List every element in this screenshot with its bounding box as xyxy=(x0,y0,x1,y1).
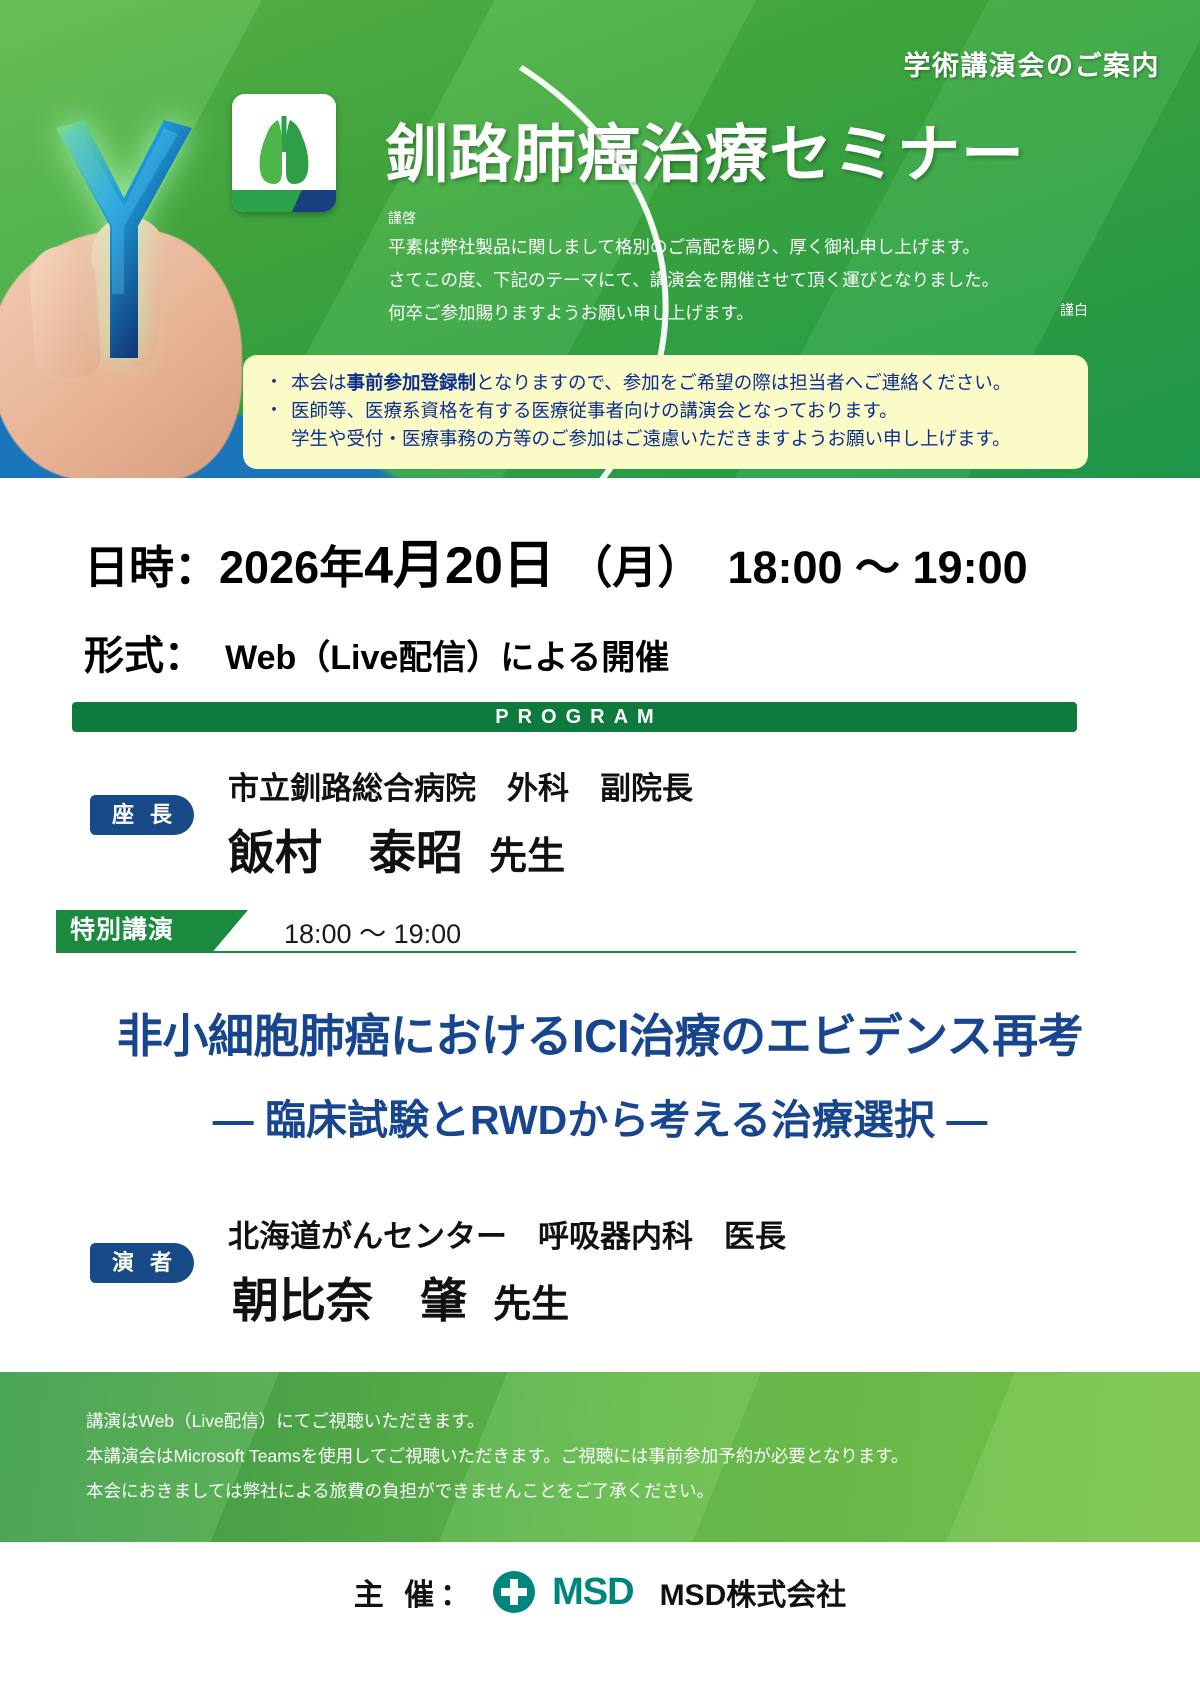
chair-role-badge: 座 長 xyxy=(90,795,194,835)
host-row: 主 催： MSD MSD株式会社 xyxy=(0,1570,1200,1614)
host-label: 主 催： xyxy=(354,1570,476,1614)
notice-item-2: 医師等、医療系資格を有する医療従事者向けの講演会となっております。 xyxy=(265,397,1066,425)
msd-logo-icon xyxy=(492,1570,536,1614)
special-lecture-time: 18:00 ～ 19:00 xyxy=(284,912,461,951)
speaker-name: 朝比奈 肇 xyxy=(232,1274,467,1327)
lecture-title-line-1: 非小細胞肺癌におけるICI治療のエビデンス再考 xyxy=(0,1000,1200,1066)
greeting-line-2: さてこの度、下記のテーマにて、講演会を開催させて頂く運びとなりました。 xyxy=(388,264,1088,297)
msd-wordmark: MSD xyxy=(552,1571,633,1614)
footer-note-2: 本講演会はMicrosoft Teamsを使用してご視聴いただきます。ご視聴には… xyxy=(86,1439,909,1474)
datetime-day: 20日 xyxy=(445,537,555,595)
special-lecture-rule xyxy=(56,951,1076,953)
datetime-time: 18:00 ～ 19:00 xyxy=(727,542,1027,593)
chair-honorific: 先生 xyxy=(489,836,565,878)
greeting-line-3: 何卒ご参加賜りますようお願い申し上げます。 謹白 xyxy=(388,297,1088,330)
special-lecture-header: 特別講演 18:00 ～ 19:00 xyxy=(56,910,1076,956)
lung-icon xyxy=(232,94,336,212)
program-bar: PROGRAM xyxy=(72,702,1077,732)
notice-emphasis: 事前参加登録制 xyxy=(347,372,477,393)
poster-header: 学術講演会のご案内 釧路肺癌治療セミナー 謹啓 平素は弊社製品に関しまして格別の… xyxy=(0,0,1200,478)
host-company: MSD株式会社 xyxy=(660,1570,847,1614)
format-label: 形式： xyxy=(84,634,204,678)
notice-item-1: 本会は事前参加登録制となりますので、参加をご希望の際は担当者へご連絡ください。 xyxy=(265,369,1066,397)
chair-affiliation: 市立釧路総合病院 外科 副院長 xyxy=(228,763,693,808)
seminar-title: 釧路肺癌治療セミナー xyxy=(385,104,1025,195)
lecture-title-line-2: — 臨床試験とRWDから考える治療選択 — xyxy=(0,1086,1200,1146)
speaker-affiliation: 北海道がんセンター 呼吸器内科 医長 xyxy=(228,1211,786,1256)
speaker-honorific: 先生 xyxy=(493,1284,569,1326)
footer-notes: 講演はWeb（Live配信）にてご視聴いただきます。 本講演会はMicrosof… xyxy=(86,1404,909,1509)
chair-name-row: 飯村 泰昭 先生 xyxy=(228,814,565,883)
host-strip xyxy=(0,1542,1200,1697)
chair-name: 飯村 泰昭 xyxy=(228,826,463,879)
speaker-role-badge: 演 者 xyxy=(90,1243,194,1283)
notice-box: 本会は事前参加登録制となりますので、参加をご希望の際は担当者へご連絡ください。 … xyxy=(243,355,1088,469)
footer-note-3: 本会におきましては弊社による旅費の負担ができませんことをご了承ください。 xyxy=(86,1474,909,1509)
greeting-block: 謹啓 平素は弊社製品に関しまして格別のご高配を賜り、厚く御礼申し上げます。 さて… xyxy=(388,205,1088,329)
poster-footer: 講演はWeb（Live配信）にてご視聴いただきます。 本講演会はMicrosof… xyxy=(0,1372,1200,1542)
datetime-row: 日時：2026年4月20日 （月） 18:00 ～ 19:00 xyxy=(84,523,1028,598)
datetime-year: 2026年 xyxy=(219,542,364,593)
datetime-weekday: （月） xyxy=(567,542,702,593)
footer-note-1: 講演はWeb（Live配信）にてご視聴いただきます。 xyxy=(86,1404,909,1439)
antibody-y-icon xyxy=(38,114,208,364)
format-row: 形式： Web（Live配信）による開催 xyxy=(84,623,669,681)
header-kicker: 学術講演会のご案内 xyxy=(904,44,1161,83)
format-value: Web（Live配信）による開催 xyxy=(225,639,669,677)
datetime-label: 日時： xyxy=(84,542,219,593)
greeting-line-1: 平素は弊社製品に関しまして格別のご高配を賜り、厚く御礼申し上げます。 xyxy=(388,231,1088,264)
datetime-month: 4月 xyxy=(364,537,445,595)
notice-item-2-continued: 学生や受付・医療事務の方等のご参加はご遠慮いただきますようお願い申し上げます。 xyxy=(265,425,1066,453)
speaker-name-row: 朝比奈 肇 先生 xyxy=(232,1262,569,1331)
special-lecture-ribbon: 特別講演 xyxy=(56,910,248,951)
greeting-salutation: 謹啓 xyxy=(388,205,1088,231)
poster-body: 日時：2026年4月20日 （月） 18:00 ～ 19:00 形式： Web（… xyxy=(0,478,1200,1488)
greeting-closing: 謹白 xyxy=(1060,297,1088,323)
